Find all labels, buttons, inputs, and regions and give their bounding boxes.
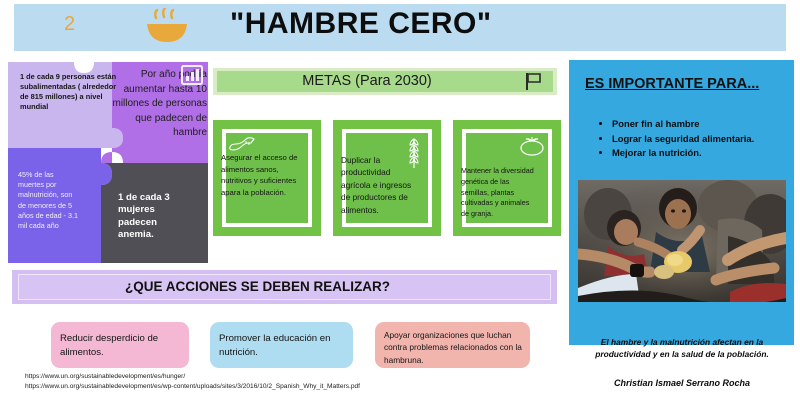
importance-title: ES IMPORTANTE PARA...	[585, 76, 759, 92]
source-link-2[interactable]: https://www.un.org/sustainabledevelopmen…	[25, 382, 360, 392]
source-link-1[interactable]: https://www.un.org/sustainabledevelopmen…	[25, 372, 360, 382]
goal-text: Asegurar el acceso de alimentos sanos, n…	[221, 152, 299, 198]
soup-bowl-icon	[144, 8, 190, 44]
page-title: "HAMBRE CERO"	[230, 7, 492, 41]
puzzle-text-child-deaths: 45% de las muertes por malnutrición, son…	[18, 170, 80, 231]
puzzle-text-anemia: 1 de cada 3 mujeres padecen anemia.	[118, 192, 194, 242]
action-text: Reducir desperdicio de alimentos.	[60, 332, 185, 360]
question-title: ¿QUE ACCIONES SE DEBEN REALIZAR?	[125, 279, 390, 294]
action-card-promote-education: Promover la educación en nutrición.	[210, 322, 353, 368]
statistics-puzzle: 1 de cada 9 personas están subalimentada…	[6, 60, 210, 265]
importance-bullet-list: Poner fin al hambre Lograr la seguridad …	[598, 117, 754, 161]
action-text: Apoyar organizaciones que luchan contra …	[384, 329, 524, 366]
tomato-icon	[519, 134, 545, 156]
list-item: Mejorar la nutrición.	[612, 146, 754, 161]
goal-text: Duplicar la productividad agrícola e ing…	[341, 154, 419, 216]
sources-block: https://www.un.org/sustainabledevelopmen…	[25, 372, 360, 392]
goal-card-food-access: Asegurar el acceso de alimentos sanos, n…	[213, 120, 321, 236]
goal-card-productivity: Duplicar la productividad agrícola e ing…	[333, 120, 441, 236]
infographic-poster: 2 "HAMBRE CERO" 1 de cada 9 personas est…	[0, 0, 800, 400]
children-reaching-for-food-photo	[578, 180, 786, 302]
puzzle-text-undernourished: 1 de cada 9 personas están subalimentada…	[20, 72, 120, 112]
metas-title: METAS (Para 2030)	[217, 73, 517, 89]
list-item: Lograr la seguridad alimentaria.	[612, 132, 754, 147]
action-card-reduce-waste: Reducir desperdicio de alimentos.	[51, 322, 189, 368]
importance-caption: El hambre y la malnutrición afectan en l…	[574, 336, 790, 360]
action-text: Promover la educación en nutrición.	[219, 332, 344, 360]
list-item: Poner fin al hambre	[612, 117, 754, 132]
goal-number: 2	[64, 13, 75, 36]
goal-card-genetic-diversity: Mantener la diversidad genética de las s…	[453, 120, 561, 236]
author-credit: Christian Ismael Serrano Rocha	[574, 378, 790, 388]
goal-text: Mantener la diversidad genética de las s…	[461, 166, 539, 220]
action-card-support-organizations: Apoyar organizaciones que luchan contra …	[375, 322, 530, 368]
drumstick-icon	[229, 136, 255, 152]
flag-icon	[524, 72, 542, 91]
bar-chart-icon	[181, 65, 203, 85]
